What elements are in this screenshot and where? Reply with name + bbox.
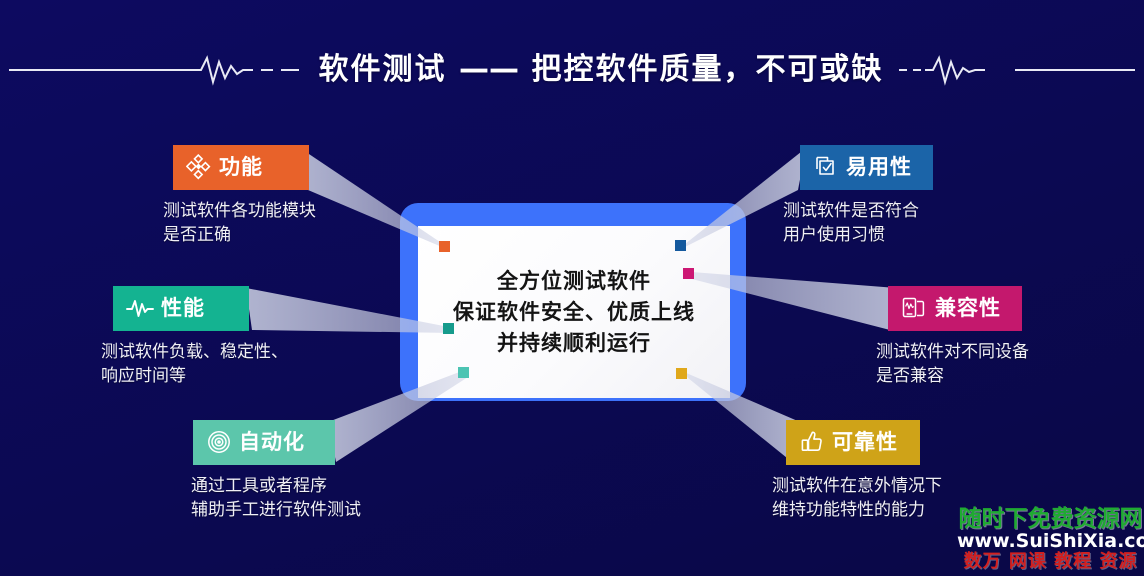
badge-usability-label: 易用性 xyxy=(846,157,912,178)
caption-usability-line-2: 用户使用习惯 xyxy=(783,223,933,247)
caption-compatibility-line-2: 是否兼容 xyxy=(876,364,1029,388)
center-line-2: 保证软件安全、优质上线 xyxy=(453,301,695,323)
pulse-line-icon-right xyxy=(895,50,1015,90)
page-title: 软件测试 —— 把控软件质量，不可或缺 xyxy=(307,55,896,85)
dot-compatibility xyxy=(683,268,694,279)
badge-performance[interactable]: 性能 xyxy=(113,286,249,331)
dot-function xyxy=(439,241,450,252)
node-usability[interactable]: 易用性 测试软件是否符合 用户使用习惯 xyxy=(800,145,933,247)
caption-reliability-line-1: 测试软件在意外情况下 xyxy=(772,474,942,498)
spiral-target-icon xyxy=(206,429,232,455)
caption-usability: 测试软件是否符合 用户使用习惯 xyxy=(783,199,933,247)
dot-reliability xyxy=(676,368,687,379)
infographic-canvas: 软件测试 —— 把控软件质量，不可或缺 xyxy=(0,0,1144,576)
caption-usability-line-1: 测试软件是否符合 xyxy=(783,199,933,223)
caption-compatibility-line-1: 测试软件对不同设备 xyxy=(876,340,1029,364)
caption-compatibility: 测试软件对不同设备 是否兼容 xyxy=(876,340,1029,388)
pulse-line-icon-left xyxy=(187,50,307,90)
badge-automation[interactable]: 自动化 xyxy=(193,420,335,465)
badge-compatibility-label: 兼容性 xyxy=(935,298,1001,319)
badge-usability[interactable]: 易用性 xyxy=(800,145,933,190)
node-function[interactable]: 功能 测试软件各功能模块 是否正确 xyxy=(173,145,316,247)
badge-function[interactable]: 功能 xyxy=(173,145,309,190)
header-rule-left xyxy=(9,69,187,71)
caption-performance: 测试软件负载、稳定性、 响应时间等 xyxy=(101,340,288,388)
center-line-3: 并持续顺利运行 xyxy=(497,332,651,354)
caption-function-line-2: 是否正确 xyxy=(163,223,316,247)
caption-automation-line-2: 辅助手工进行软件测试 xyxy=(191,498,361,522)
page-title-sub: 把控软件质量，不可或缺 xyxy=(531,52,883,87)
caption-automation: 通过工具或者程序 辅助手工进行软件测试 xyxy=(191,474,361,522)
thumbs-up-icon xyxy=(799,429,825,455)
badge-performance-label: 性能 xyxy=(161,298,205,319)
badge-reliability-label: 可靠性 xyxy=(832,432,898,453)
caption-function-line-1: 测试软件各功能模块 xyxy=(163,199,316,223)
header-rule-right xyxy=(1015,69,1135,71)
badge-reliability[interactable]: 可靠性 xyxy=(786,420,920,465)
watermark-line-1: 随时下免费资源网 xyxy=(957,508,1144,531)
watermark: 随时下免费资源网 www.SuiShiXia.com 数万 网课 教程 资源 xyxy=(957,508,1144,576)
node-reliability[interactable]: 可靠性 测试软件在意外情况下 维持功能特性的能力 xyxy=(786,420,942,522)
page-title-main: 软件测试 xyxy=(319,52,447,87)
dot-performance xyxy=(443,323,454,334)
caption-function: 测试软件各功能模块 是否正确 xyxy=(163,199,316,247)
badge-compatibility[interactable]: 兼容性 xyxy=(888,286,1022,331)
watermark-line-2: www.SuiShiXia.com xyxy=(957,532,1144,551)
pulse-heartbeat-icon xyxy=(126,296,154,320)
page-title-dash: —— xyxy=(459,52,519,87)
node-performance[interactable]: 性能 测试软件负载、稳定性、 响应时间等 xyxy=(113,286,288,388)
badge-function-label: 功能 xyxy=(219,157,263,178)
caption-reliability-line-2: 维持功能特性的能力 xyxy=(772,498,942,522)
caption-performance-line-1: 测试软件负载、稳定性、 xyxy=(101,340,288,364)
caption-reliability: 测试软件在意外情况下 维持功能特性的能力 xyxy=(772,474,942,522)
checklist-document-icon xyxy=(813,154,839,180)
caption-automation-line-1: 通过工具或者程序 xyxy=(191,474,361,498)
center-line-1: 全方位测试软件 xyxy=(497,270,651,292)
badge-automation-label: 自动化 xyxy=(239,432,305,453)
node-automation[interactable]: 自动化 通过工具或者程序 辅助手工进行软件测试 xyxy=(193,420,361,522)
center-card: 全方位测试软件 保证软件安全、优质上线 并持续顺利运行 xyxy=(400,203,746,401)
watermark-line-3: 数万 网课 教程 资源 xyxy=(957,553,1144,571)
dot-usability xyxy=(675,240,686,251)
page-header: 软件测试 —— 把控软件质量，不可或缺 xyxy=(0,38,1144,102)
dot-automation xyxy=(458,367,469,378)
devices-phone-tablet-icon xyxy=(901,295,928,321)
node-compatibility[interactable]: 兼容性 测试软件对不同设备 是否兼容 xyxy=(888,286,1029,388)
diamond-cluster-icon xyxy=(186,154,212,180)
caption-performance-line-2: 响应时间等 xyxy=(101,364,288,388)
